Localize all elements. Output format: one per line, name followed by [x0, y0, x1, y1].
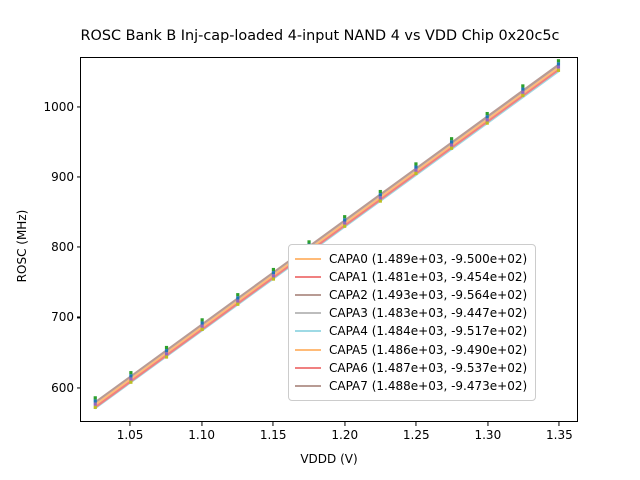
- data-point-marker: [272, 274, 275, 277]
- data-point-marker: [521, 91, 524, 94]
- data-point-marker: [201, 325, 204, 328]
- data-point-marker: [94, 399, 97, 402]
- legend-color-swatch: [295, 294, 321, 296]
- data-point-marker: [557, 59, 560, 62]
- y-tick-label: 600: [14, 381, 74, 395]
- data-point-marker: [165, 349, 168, 352]
- data-point-marker: [486, 122, 489, 125]
- data-point-marker: [236, 293, 239, 296]
- legend-label: CAPA4 (1.484e+03, -9.517e+02): [329, 324, 527, 338]
- x-tick-label: 1.30: [458, 428, 518, 442]
- y-tick-label: 1000: [14, 100, 74, 114]
- data-point-marker: [414, 172, 417, 175]
- data-point-marker: [379, 196, 382, 199]
- legend-label: CAPA3 (1.483e+03, -9.447e+02): [329, 306, 527, 320]
- data-point-marker: [272, 271, 275, 274]
- legend-label: CAPA5 (1.486e+03, -9.490e+02): [329, 343, 527, 357]
- data-point-marker: [379, 200, 382, 203]
- legend-item[interactable]: CAPA3 (1.483e+03, -9.447e+02): [295, 304, 527, 322]
- data-point-marker: [165, 346, 168, 349]
- data-point-marker: [486, 112, 489, 115]
- legend-item[interactable]: CAPA0 (1.489e+03, -9.500e+02): [295, 250, 527, 268]
- y-tick-mark: [77, 387, 81, 388]
- legend-item[interactable]: CAPA7 (1.488e+03, -9.473e+02): [295, 377, 527, 395]
- figure: ROSC Bank B Inj-cap-loaded 4-input NAND …: [0, 0, 640, 480]
- x-tick-mark: [416, 422, 417, 426]
- data-point-marker: [129, 371, 132, 374]
- data-point-marker: [343, 215, 346, 218]
- legend-item[interactable]: CAPA2 (1.493e+03, -9.564e+02): [295, 286, 527, 304]
- legend-color-swatch: [295, 330, 321, 332]
- legend-color-swatch: [295, 276, 321, 278]
- legend-color-swatch: [295, 385, 321, 387]
- data-point-marker: [414, 166, 417, 169]
- data-point-marker: [450, 137, 453, 140]
- x-tick-label: 1.20: [315, 428, 375, 442]
- legend-item[interactable]: CAPA1 (1.481e+03, -9.454e+02): [295, 268, 527, 286]
- legend-label: CAPA0 (1.489e+03, -9.500e+02): [329, 252, 527, 266]
- data-point-marker: [450, 147, 453, 150]
- data-point-marker: [272, 268, 275, 271]
- data-point-marker: [201, 328, 204, 331]
- data-point-marker: [379, 190, 382, 193]
- legend-color-swatch: [295, 349, 321, 351]
- data-point-marker: [201, 318, 204, 321]
- x-tick-mark: [130, 422, 131, 426]
- data-point-marker: [414, 162, 417, 165]
- data-point-marker: [521, 94, 524, 97]
- legend-label: CAPA7 (1.488e+03, -9.473e+02): [329, 379, 527, 393]
- x-tick-mark: [559, 422, 560, 426]
- data-point-marker: [557, 62, 560, 65]
- data-point-marker: [236, 299, 239, 302]
- legend-item[interactable]: CAPA6 (1.487e+03, -9.537e+02): [295, 359, 527, 377]
- x-tick-mark: [344, 422, 345, 426]
- legend-label: CAPA6 (1.487e+03, -9.537e+02): [329, 361, 527, 375]
- data-point-marker: [201, 321, 204, 324]
- x-tick-mark: [487, 422, 488, 426]
- data-point-marker: [165, 352, 168, 355]
- data-point-marker: [94, 406, 97, 409]
- data-point-marker: [486, 115, 489, 118]
- data-point-marker: [521, 88, 524, 91]
- data-point-marker: [236, 296, 239, 299]
- legend-item[interactable]: CAPA5 (1.486e+03, -9.490e+02): [295, 340, 527, 358]
- data-point-marker: [94, 396, 97, 399]
- y-tick-mark: [77, 106, 81, 107]
- x-tick-label: 1.35: [529, 428, 589, 442]
- y-tick-mark: [77, 317, 81, 318]
- y-axis-label: ROSC (MHz): [15, 176, 29, 316]
- data-point-marker: [450, 144, 453, 147]
- data-point-marker: [557, 69, 560, 72]
- data-point-marker: [307, 240, 310, 243]
- legend-label: CAPA1 (1.481e+03, -9.454e+02): [329, 270, 527, 284]
- x-tick-label: 1.25: [386, 428, 446, 442]
- y-tick-mark: [77, 176, 81, 177]
- data-point-marker: [343, 221, 346, 224]
- data-point-marker: [414, 169, 417, 172]
- data-point-marker: [557, 66, 560, 69]
- data-point-marker: [343, 218, 346, 221]
- data-point-marker: [129, 377, 132, 380]
- data-point-marker: [129, 374, 132, 377]
- data-point-marker: [236, 303, 239, 306]
- data-point-marker: [486, 118, 489, 121]
- legend-label: CAPA2 (1.493e+03, -9.564e+02): [329, 288, 527, 302]
- data-point-marker: [165, 355, 168, 358]
- data-point-marker: [129, 381, 132, 384]
- legend-color-swatch: [295, 367, 321, 369]
- data-point-marker: [450, 140, 453, 143]
- data-point-marker: [379, 193, 382, 196]
- legend-color-swatch: [295, 258, 321, 260]
- x-axis-label: VDDD (V): [80, 452, 578, 466]
- x-tick-label: 1.15: [243, 428, 303, 442]
- y-tick-mark: [77, 247, 81, 248]
- x-tick-mark: [201, 422, 202, 426]
- data-point-marker: [272, 277, 275, 280]
- legend[interactable]: CAPA0 (1.489e+03, -9.500e+02)CAPA1 (1.48…: [288, 244, 536, 401]
- x-tick-mark: [273, 422, 274, 426]
- chart-title: ROSC Bank B Inj-cap-loaded 4-input NAND …: [0, 28, 640, 44]
- x-tick-label: 1.05: [100, 428, 160, 442]
- data-point-marker: [94, 403, 97, 406]
- data-point-marker: [521, 84, 524, 87]
- data-point-marker: [343, 225, 346, 228]
- legend-color-swatch: [295, 312, 321, 314]
- x-tick-label: 1.10: [172, 428, 232, 442]
- legend-item[interactable]: CAPA4 (1.484e+03, -9.517e+02): [295, 322, 527, 340]
